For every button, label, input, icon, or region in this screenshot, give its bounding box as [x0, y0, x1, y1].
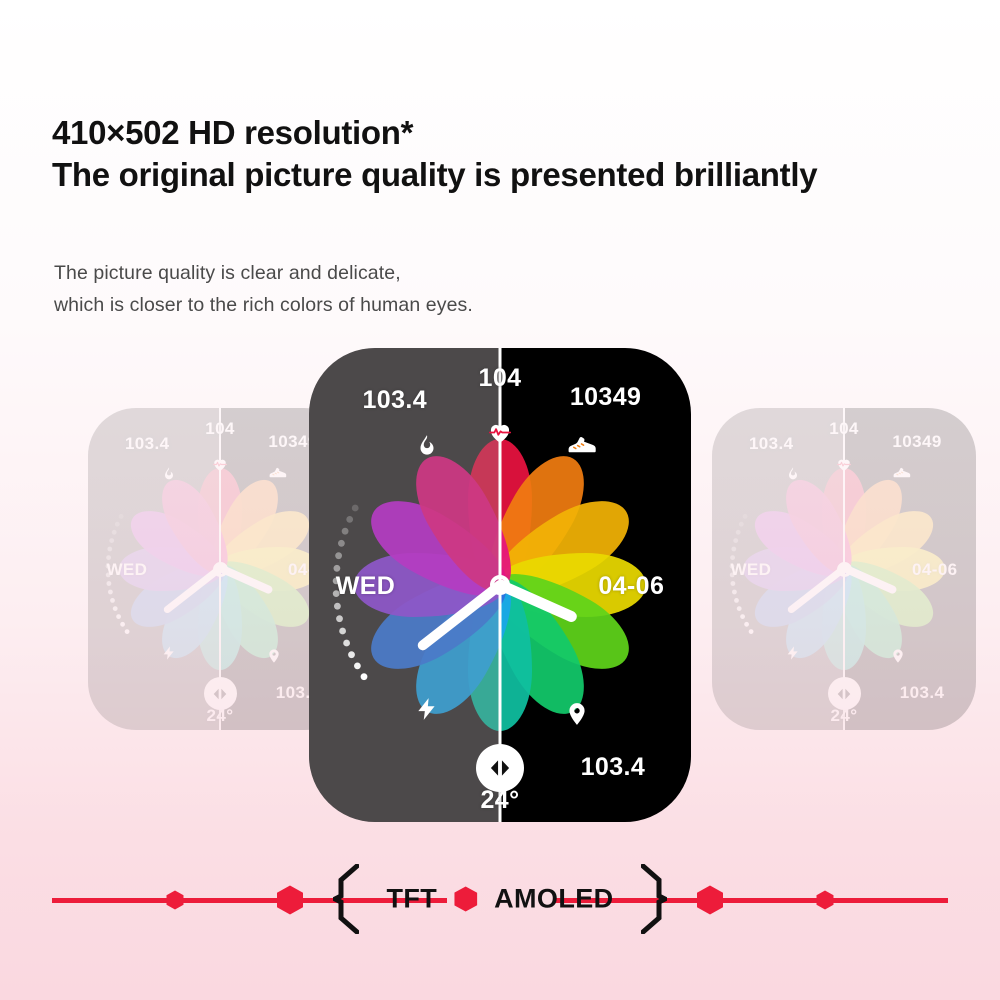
sneaker-icon — [892, 463, 911, 482]
complication-top-center: 104 — [479, 364, 522, 393]
lightning-bolt-icon — [414, 696, 440, 722]
subtitle-line-1: The picture quality is clear and delicat… — [54, 258, 754, 290]
location-pin-icon — [890, 648, 906, 664]
clock-hub — [213, 562, 228, 577]
ghost-watch-right: 103.4 104 10349 WED 04-06 103.4 24° — [712, 408, 976, 730]
headline-block: 410×502 HD resolution* The original pict… — [52, 112, 972, 196]
headline-line-1: 410×502 HD resolution* — [52, 112, 972, 154]
subtitle-line-2: which is closer to the rich colors of hu… — [54, 290, 754, 322]
complication-weekday: WED — [106, 560, 147, 580]
rule-hexagon-marker — [697, 886, 723, 915]
comparison-bar: TFT AMOLED — [0, 862, 1000, 936]
watch-comparison-stage: 103.4 104 10349 WED 04-06 103.4 24° 103. — [0, 348, 1000, 838]
bracket-right-icon — [641, 864, 667, 934]
main-watch: 103.4 104 10349 WED 04-06 103.4 24° — [309, 348, 691, 822]
complication-bottom-right: 103.4 — [900, 683, 945, 703]
amoled-label: AMOLED — [494, 884, 613, 915]
complication-top-left: 103.4 — [749, 434, 794, 454]
complication-top-right: 10349 — [892, 432, 941, 452]
lightning-bolt-icon — [161, 645, 177, 661]
complication-weekday: WED — [336, 572, 396, 601]
subtitle-block: The picture quality is clear and delicat… — [54, 258, 754, 321]
left-right-arrows-icon[interactable] — [476, 744, 524, 792]
sneaker-icon — [268, 463, 287, 482]
location-pin-icon — [266, 648, 282, 664]
heart-pulse-icon — [836, 456, 853, 473]
flame-icon — [161, 466, 177, 482]
clock-hub — [490, 575, 510, 595]
complication-top-right: 10349 — [570, 383, 642, 412]
watch-face: 103.4 104 10349 WED 04-06 103.4 24° — [309, 348, 691, 822]
rule-hexagon-marker — [817, 891, 834, 910]
complication-date: 04-06 — [598, 572, 664, 601]
complication-bottom-right: 103.4 — [581, 753, 646, 782]
complication-date: 04-06 — [912, 560, 957, 580]
headline-line-2: The original picture quality is presente… — [52, 154, 972, 196]
separator-hexagon-icon — [454, 887, 477, 912]
flame-icon — [785, 466, 801, 482]
lightning-bolt-icon — [785, 645, 801, 661]
comparison-labels: TFT AMOLED — [386, 884, 613, 915]
tft-label: TFT — [386, 884, 437, 915]
complication-top-center: 104 — [829, 419, 859, 439]
left-right-arrows-icon — [204, 677, 237, 710]
flame-icon — [414, 433, 440, 459]
bracket-left-icon — [333, 864, 359, 934]
location-pin-icon — [564, 701, 590, 727]
heart-pulse-icon — [487, 419, 514, 446]
complication-weekday: WED — [730, 560, 771, 580]
heart-pulse-icon — [212, 456, 229, 473]
left-right-arrows-icon — [828, 677, 861, 710]
clock-hub — [837, 562, 852, 577]
sneaker-icon — [566, 429, 597, 460]
complication-top-left: 103.4 — [125, 434, 170, 454]
complication-top-center: 104 — [205, 419, 235, 439]
rule-hexagon-marker — [167, 891, 184, 910]
rule-hexagon-marker — [277, 886, 303, 915]
watch-face: 103.4 104 10349 WED 04-06 103.4 24° — [712, 408, 976, 730]
complication-top-left: 103.4 — [362, 386, 427, 415]
